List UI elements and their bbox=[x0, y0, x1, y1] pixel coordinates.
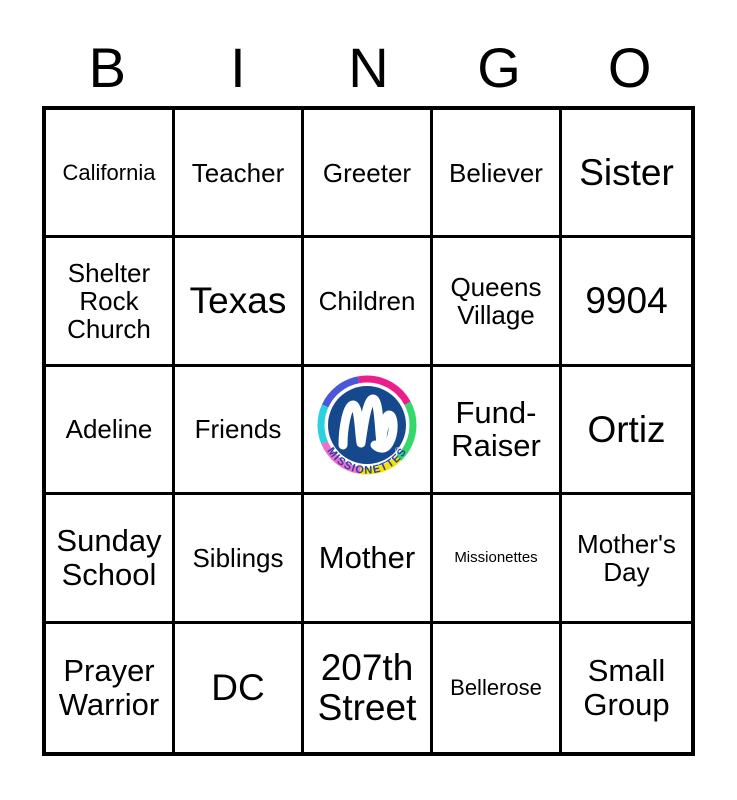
bingo-cell-label: Sister bbox=[577, 153, 676, 193]
bingo-free-space-cell[interactable]: ® MISSIONETTES bbox=[304, 367, 433, 495]
bingo-cell-label: Friends bbox=[193, 415, 284, 443]
bingo-cell[interactable]: Shelter Rock Church bbox=[46, 238, 175, 366]
bingo-cell[interactable]: Sister bbox=[562, 110, 691, 238]
bingo-cell[interactable]: Mother bbox=[304, 495, 433, 623]
bingo-cell[interactable]: Greeter bbox=[304, 110, 433, 238]
bingo-cell[interactable]: DC bbox=[175, 624, 304, 752]
bingo-card: B I N G O California Teacher Greeter Bel… bbox=[0, 0, 737, 800]
missionettes-logo-icon: ® MISSIONETTES bbox=[309, 371, 425, 487]
bingo-cell[interactable]: California bbox=[46, 110, 175, 238]
bingo-header-letter-o: O bbox=[564, 34, 695, 102]
bingo-cell[interactable]: Children bbox=[304, 238, 433, 366]
bingo-cell-label: Greeter bbox=[321, 159, 413, 187]
bingo-header-letter-n: N bbox=[303, 34, 434, 102]
bingo-cell-label: Fund- Raiser bbox=[449, 396, 543, 463]
bingo-cell[interactable]: Ortiz bbox=[562, 367, 691, 495]
bingo-cell-label: California bbox=[61, 161, 158, 185]
bingo-cell[interactable]: Small Group bbox=[562, 624, 691, 752]
bingo-cell[interactable]: Friends bbox=[175, 367, 304, 495]
bingo-cell[interactable]: Teacher bbox=[175, 110, 304, 238]
bingo-cell-label: Mother bbox=[317, 541, 417, 574]
bingo-cell[interactable]: Mother's Day bbox=[562, 495, 691, 623]
bingo-cell-label: Ortiz bbox=[585, 410, 667, 450]
bingo-cell[interactable]: 207th Street bbox=[304, 624, 433, 752]
bingo-cell-label: Children bbox=[317, 287, 418, 315]
bingo-cell[interactable]: Missionettes bbox=[433, 495, 562, 623]
bingo-header: B I N G O bbox=[42, 34, 695, 102]
bingo-cell[interactable]: Prayer Warrior bbox=[46, 624, 175, 752]
bingo-cell[interactable]: Bellerose bbox=[433, 624, 562, 752]
bingo-cell[interactable]: Texas bbox=[175, 238, 304, 366]
bingo-cell-label: Sunday School bbox=[54, 524, 163, 591]
bingo-cell[interactable]: Queens Village bbox=[433, 238, 562, 366]
bingo-header-letter-b: B bbox=[42, 34, 173, 102]
bingo-cell-label: Texas bbox=[188, 281, 289, 321]
bingo-grid: California Teacher Greeter Believer Sist… bbox=[42, 106, 695, 756]
bingo-cell-label: Small Group bbox=[581, 654, 671, 721]
bingo-cell[interactable]: Siblings bbox=[175, 495, 304, 623]
bingo-cell-label: Queens Village bbox=[448, 273, 543, 329]
bingo-cell-label: Adeline bbox=[64, 415, 155, 443]
bingo-cell-label: Bellerose bbox=[448, 676, 544, 700]
bingo-cell[interactable]: 9904 bbox=[562, 238, 691, 366]
bingo-header-letter-i: I bbox=[173, 34, 304, 102]
bingo-cell-label: Siblings bbox=[190, 544, 285, 572]
bingo-cell-label: 207th Street bbox=[316, 648, 419, 728]
bingo-cell-label: Prayer Warrior bbox=[57, 654, 161, 721]
bingo-cell[interactable]: Fund- Raiser bbox=[433, 367, 562, 495]
bingo-cell-label: Mother's Day bbox=[575, 530, 678, 586]
bingo-cell[interactable]: Believer bbox=[433, 110, 562, 238]
bingo-cell-label: DC bbox=[209, 668, 266, 708]
bingo-cell-label: Teacher bbox=[190, 159, 287, 187]
bingo-header-letter-g: G bbox=[434, 34, 565, 102]
bingo-cell-label: Shelter Rock Church bbox=[65, 259, 153, 343]
bingo-cell-label: Believer bbox=[447, 159, 545, 187]
bingo-cell-label: 9904 bbox=[583, 281, 669, 321]
bingo-cell-label: Missionettes bbox=[452, 550, 539, 566]
bingo-cell[interactable]: Adeline bbox=[46, 367, 175, 495]
bingo-cell[interactable]: Sunday School bbox=[46, 495, 175, 623]
